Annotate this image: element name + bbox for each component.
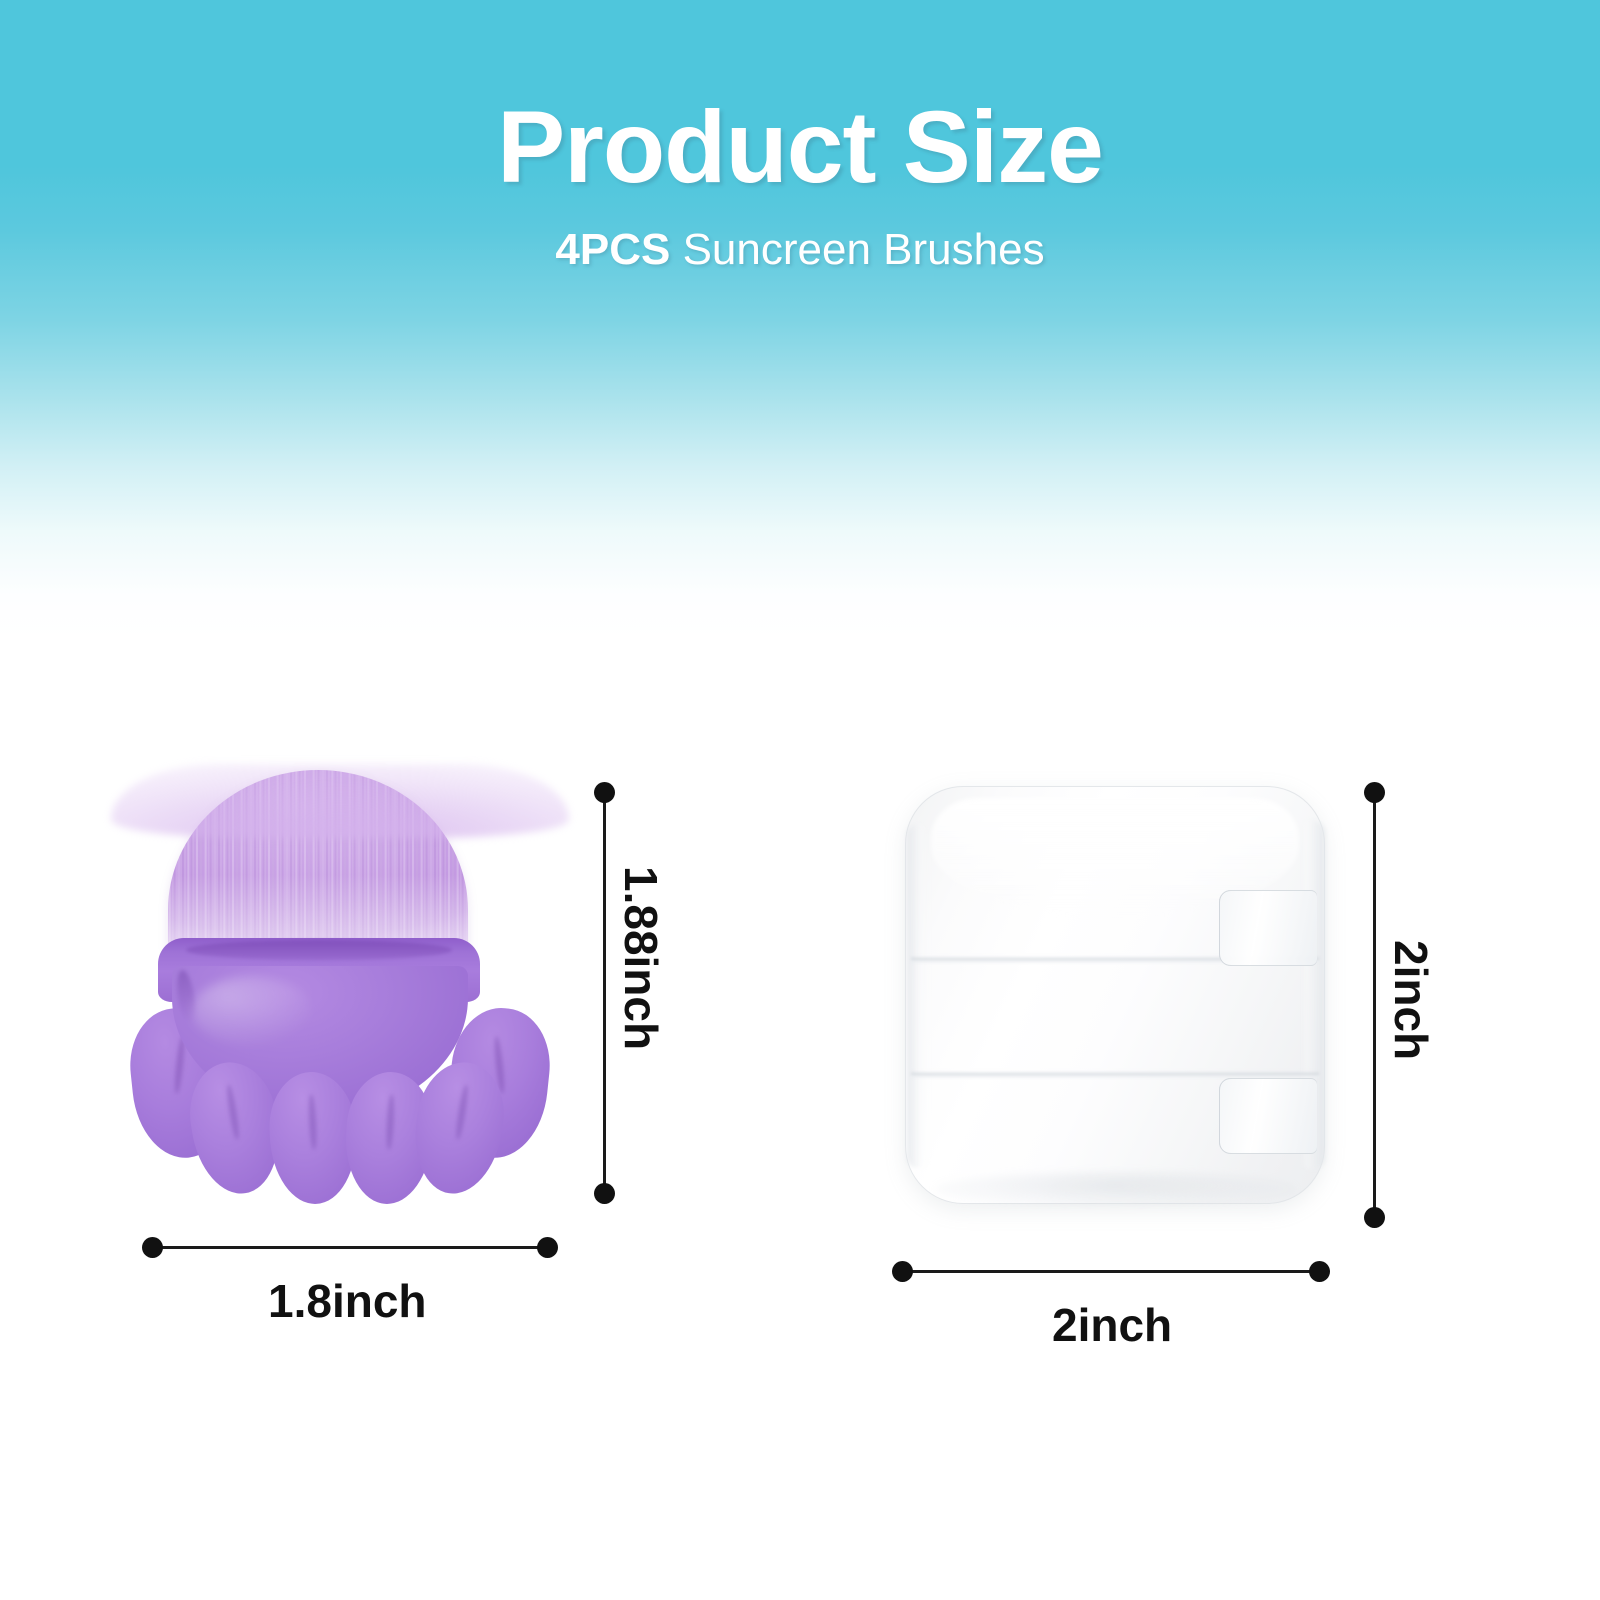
dimension-line-horizontal	[152, 1246, 548, 1249]
paw-toe-crease	[385, 1094, 395, 1150]
dimension-endpoint-dot	[1309, 1261, 1330, 1282]
brush-height-label: 1.88inch	[618, 866, 664, 1050]
brush-width-label: 1.8inch	[268, 1278, 427, 1324]
paw-toe-crease	[454, 1084, 470, 1140]
dimension-endpoint-dot	[892, 1261, 913, 1282]
background-gradient	[0, 0, 1600, 640]
dimension-endpoint-dot	[594, 782, 615, 803]
case-latch-upper	[1219, 890, 1317, 966]
case-left-edge-highlight	[907, 824, 929, 1168]
dimension-line-vertical	[603, 792, 606, 1194]
dimension-line-horizontal	[902, 1270, 1320, 1273]
paw-toe-crease	[225, 1084, 241, 1140]
dimension-endpoint-dot	[1364, 782, 1385, 803]
case-width-label: 2inch	[1052, 1302, 1172, 1348]
case-height-label: 2inch	[1388, 940, 1434, 1060]
dimension-endpoint-dot	[1364, 1207, 1385, 1228]
dimension-line-vertical	[1373, 792, 1376, 1218]
case-base-shadow	[935, 1172, 1295, 1206]
dimension-endpoint-dot	[142, 1237, 163, 1258]
dimension-endpoint-dot	[594, 1183, 615, 1204]
case-latch-lower	[1219, 1078, 1317, 1154]
paw-pad-highlight	[192, 976, 312, 1046]
paw-toe-crease	[308, 1094, 318, 1150]
cat-paw-brush-icon	[120, 770, 560, 1200]
clear-storage-case-icon	[905, 786, 1325, 1204]
brush-collar-inner-shadow	[186, 940, 452, 960]
brush-head-soft-edge	[111, 764, 569, 838]
dimension-endpoint-dot	[537, 1237, 558, 1258]
product-size-infographic: Product Size 4PCS Suncreen Brushes	[0, 0, 1600, 1600]
